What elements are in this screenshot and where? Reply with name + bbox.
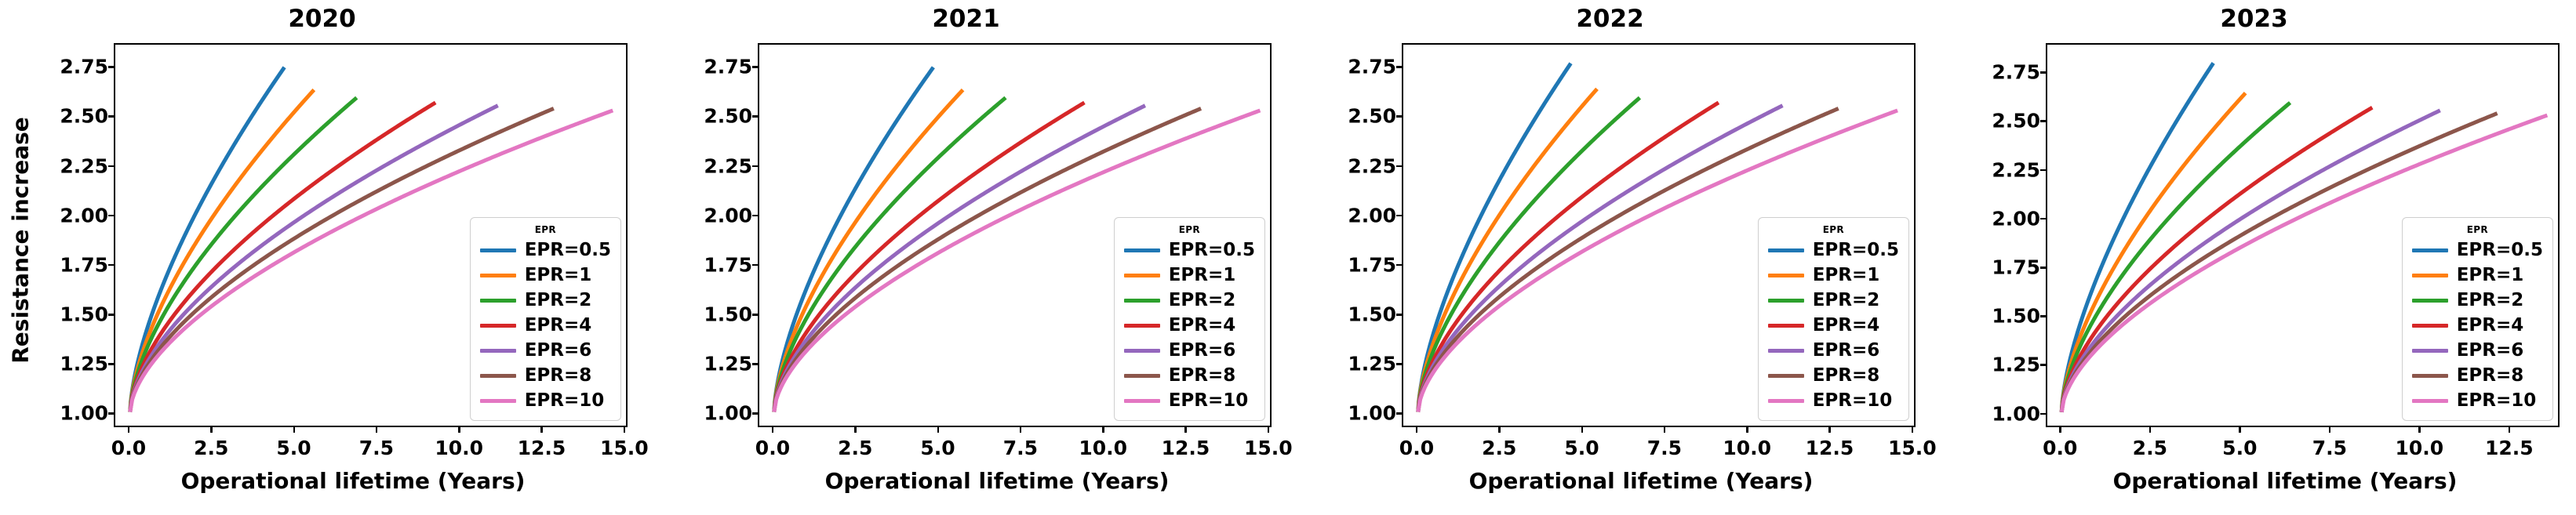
panel-title: 2021 <box>644 5 1288 33</box>
y-tick-label: 2.75 <box>704 56 752 78</box>
legend-swatch-icon <box>1768 324 1804 328</box>
x-tick-mark <box>1102 427 1104 433</box>
y-tick-mark <box>752 363 758 365</box>
legend-item[interactable]: EPR=2 <box>1768 288 1899 313</box>
legend-title: EPR <box>1768 224 1899 235</box>
legend-swatch-icon <box>2412 399 2448 403</box>
legend-item[interactable]: EPR=8 <box>1768 363 1899 388</box>
legend-swatch-icon <box>1124 274 1160 277</box>
legend-swatch-icon <box>1768 399 1804 403</box>
legend-swatch-icon <box>2412 274 2448 277</box>
legend-item-label: EPR=6 <box>525 342 592 360</box>
x-tick-mark <box>772 427 774 433</box>
y-tick-mark <box>1396 66 1402 68</box>
legend-item[interactable]: EPR=6 <box>1768 338 1899 363</box>
y-tick-mark <box>108 165 114 168</box>
legend-swatch-icon <box>1768 349 1804 353</box>
x-tick-mark <box>540 427 543 433</box>
legend-item[interactable]: EPR=4 <box>480 313 611 338</box>
x-tick-label: 5.0 <box>2222 437 2257 459</box>
x-tick-mark <box>2059 427 2061 433</box>
x-tick-mark <box>458 427 460 433</box>
legend-item[interactable]: EPR=1 <box>480 263 611 288</box>
y-tick-label: 2.50 <box>1348 105 1396 128</box>
plot-area: EPREPR=0.5EPR=1EPR=2EPR=4EPR=6EPR=8EPR=1… <box>2046 43 2560 427</box>
x-tick-label: 0.0 <box>755 437 790 459</box>
legend-swatch-icon <box>480 324 516 328</box>
x-tick-label: 15.0 <box>1888 437 1937 459</box>
y-axis-ticks: 1.001.251.501.752.002.252.502.75 <box>1932 43 2040 427</box>
legend-item-label: EPR=10 <box>1169 392 1249 410</box>
y-tick-mark <box>2040 267 2046 269</box>
legend-swatch-icon <box>1768 374 1804 378</box>
legend-swatch-icon <box>2412 299 2448 303</box>
y-tick-mark <box>1396 363 1402 365</box>
y-tick-mark <box>1396 412 1402 415</box>
legend-item-label: EPR=10 <box>525 392 605 410</box>
legend-item-label: EPR=10 <box>1813 392 1893 410</box>
y-tick-mark <box>108 66 114 68</box>
y-tick-mark <box>2040 315 2046 317</box>
y-tick-label: 1.75 <box>1348 253 1396 276</box>
x-tick-label: 5.0 <box>276 437 311 459</box>
legend-swatch-icon <box>2412 248 2448 252</box>
y-tick-mark <box>2040 120 2046 122</box>
legend-item-label: EPR=0.5 <box>1813 241 1899 259</box>
legend-swatch-icon <box>1124 248 1160 252</box>
legend-swatch-icon <box>480 248 516 252</box>
y-tick-mark <box>752 264 758 267</box>
y-tick-label: 2.50 <box>60 105 108 128</box>
y-tick-mark <box>2040 71 2046 74</box>
series-line-EPR-2 <box>774 98 1006 412</box>
y-tick-label: 1.50 <box>704 303 752 326</box>
y-tick-label: 1.25 <box>1348 353 1396 375</box>
x-tick-label: 2.5 <box>1482 437 1516 459</box>
legend-swatch-icon <box>1124 299 1160 303</box>
plot-area: EPREPR=0.5EPR=1EPR=2EPR=4EPR=6EPR=8EPR=1… <box>758 43 1272 427</box>
legend-item-label: EPR=6 <box>1169 342 1236 360</box>
legend-item[interactable]: EPR=10 <box>1124 388 1255 413</box>
legend-item-label: EPR=2 <box>525 292 592 310</box>
x-tick-label: 15.0 <box>600 437 649 459</box>
x-tick-label: 0.0 <box>2043 437 2077 459</box>
x-tick-label: 5.0 <box>920 437 955 459</box>
legend-swatch-icon <box>1768 248 1804 252</box>
y-tick-label: 2.75 <box>1992 61 2040 84</box>
legend-item[interactable]: EPR=10 <box>2412 388 2543 413</box>
series-line-EPR-2 <box>2061 103 2290 412</box>
legend-item[interactable]: EPR=0.5 <box>1768 238 1899 263</box>
legend[interactable]: EPREPR=0.5EPR=1EPR=2EPR=4EPR=6EPR=8EPR=1… <box>2402 217 2553 421</box>
legend-item[interactable]: EPR=0.5 <box>1124 238 1255 263</box>
y-tick-mark <box>752 165 758 168</box>
y-tick-label: 2.00 <box>1348 204 1396 227</box>
legend-item[interactable]: EPR=6 <box>480 338 611 363</box>
series-line-EPR-2 <box>1418 98 1640 412</box>
x-tick-mark <box>624 427 626 433</box>
x-tick-label: 10.0 <box>2396 437 2444 459</box>
legend-item-label: EPR=6 <box>2457 342 2524 360</box>
legend-item-label: EPR=0.5 <box>525 241 611 259</box>
y-tick-label: 1.00 <box>1348 402 1396 425</box>
series-line-EPR-1 <box>130 90 314 412</box>
y-tick-label: 2.75 <box>1348 56 1396 78</box>
x-tick-label: 7.5 <box>359 437 394 459</box>
y-tick-label: 2.00 <box>704 204 752 227</box>
legend-title: EPR <box>480 224 611 235</box>
y-tick-label: 1.50 <box>60 303 108 326</box>
plot-area: EPREPR=0.5EPR=1EPR=2EPR=4EPR=6EPR=8EPR=1… <box>1402 43 1916 427</box>
x-tick-label: 10.0 <box>1079 437 1127 459</box>
legend-swatch-icon <box>1124 399 1160 403</box>
y-axis-ticks: 1.001.251.501.752.002.252.502.75 <box>1288 43 1396 427</box>
legend-swatch-icon <box>2412 374 2448 378</box>
y-tick-label: 1.75 <box>704 253 752 276</box>
legend-item[interactable]: EPR=6 <box>1124 338 1255 363</box>
x-tick-label: 15.0 <box>1244 437 1293 459</box>
y-tick-label: 2.50 <box>704 105 752 128</box>
x-tick-mark <box>1664 427 1666 433</box>
y-tick-label: 1.25 <box>1992 354 2040 376</box>
x-tick-label: 2.5 <box>2133 437 2167 459</box>
x-tick-label: 10.0 <box>435 437 483 459</box>
x-tick-mark <box>293 427 296 433</box>
legend-item[interactable]: EPR=2 <box>480 288 611 313</box>
y-tick-label: 1.50 <box>1992 305 2040 328</box>
legend-swatch-icon <box>1768 299 1804 303</box>
x-tick-label: 12.5 <box>1162 437 1210 459</box>
x-tick-label: 0.0 <box>111 437 146 459</box>
x-tick-mark <box>937 427 940 433</box>
panel-2023: 2023Operational lifetime (Years)1.001.25… <box>1932 0 2576 515</box>
y-tick-mark <box>108 264 114 267</box>
series-line-EPR-1 <box>774 90 963 412</box>
y-tick-label: 2.25 <box>1348 154 1396 177</box>
series-line-EPR-1 <box>1418 89 1597 412</box>
panel-2020: 2020Resistance increaseOperational lifet… <box>0 0 644 515</box>
y-tick-label: 1.00 <box>60 402 108 425</box>
legend-item[interactable]: EPR=6 <box>2412 338 2543 363</box>
x-tick-mark <box>854 427 857 433</box>
y-tick-mark <box>2040 364 2046 366</box>
x-tick-mark <box>1912 427 1914 433</box>
y-tick-mark <box>1396 165 1402 168</box>
y-tick-mark <box>752 215 758 217</box>
y-tick-mark <box>752 66 758 68</box>
legend-item[interactable]: EPR=10 <box>480 388 611 413</box>
y-tick-mark <box>108 363 114 365</box>
y-tick-mark <box>1396 314 1402 316</box>
x-axis-ticks: 0.02.55.07.510.012.5 <box>2046 427 2560 474</box>
panel-title: 2023 <box>1932 5 2576 33</box>
legend-item-label: EPR=8 <box>2457 367 2524 385</box>
x-tick-label: 0.0 <box>1399 437 1434 459</box>
legend-item[interactable]: EPR=4 <box>1768 313 1899 338</box>
y-tick-mark <box>2040 413 2046 415</box>
legend-item[interactable]: EPR=8 <box>480 363 611 388</box>
x-tick-label: 7.5 <box>2312 437 2347 459</box>
y-tick-label: 2.75 <box>60 56 108 78</box>
y-tick-label: 2.50 <box>1992 110 2040 132</box>
legend-item[interactable]: EPR=1 <box>1124 263 1255 288</box>
x-tick-mark <box>1581 427 1584 433</box>
x-tick-mark <box>376 427 378 433</box>
y-tick-label: 1.25 <box>60 353 108 375</box>
legend-item[interactable]: EPR=4 <box>1124 313 1255 338</box>
legend-swatch-icon <box>480 374 516 378</box>
y-tick-mark <box>752 314 758 316</box>
x-tick-mark <box>2418 427 2421 433</box>
panel-title: 2022 <box>1288 5 1932 33</box>
legend-item-label: EPR=0.5 <box>1169 241 1255 259</box>
y-tick-mark <box>2040 169 2046 172</box>
x-tick-mark <box>1268 427 1270 433</box>
legend-item[interactable]: EPR=1 <box>2412 263 2543 288</box>
x-tick-label: 2.5 <box>194 437 228 459</box>
y-tick-mark <box>1396 115 1402 118</box>
x-tick-label: 12.5 <box>518 437 566 459</box>
legend-item-label: EPR=6 <box>1813 342 1880 360</box>
x-tick-mark <box>210 427 213 433</box>
legend-item-label: EPR=8 <box>1813 367 1880 385</box>
series-line-EPR-2 <box>130 98 357 412</box>
legend-item-label: EPR=4 <box>525 317 592 335</box>
y-axis-ticks: 1.001.251.501.752.002.252.502.75 <box>0 43 108 427</box>
legend-swatch-icon <box>480 299 516 303</box>
y-tick-label: 1.00 <box>1992 402 2040 425</box>
x-axis-ticks: 0.02.55.07.510.012.515.0 <box>114 427 628 474</box>
legend-item-label: EPR=1 <box>1813 267 1880 285</box>
legend-item[interactable]: EPR=2 <box>2412 288 2543 313</box>
legend-item-label: EPR=1 <box>525 267 592 285</box>
x-tick-label: 7.5 <box>1003 437 1038 459</box>
legend-item-label: EPR=2 <box>2457 292 2524 310</box>
legend-item-label: EPR=0.5 <box>2457 241 2543 259</box>
legend-item-label: EPR=4 <box>2457 317 2524 335</box>
y-tick-label: 2.00 <box>1992 207 2040 230</box>
legend-title: EPR <box>2412 224 2543 235</box>
legend[interactable]: EPREPR=0.5EPR=1EPR=2EPR=4EPR=6EPR=8EPR=1… <box>470 217 621 421</box>
x-tick-label: 12.5 <box>2485 437 2534 459</box>
x-tick-mark <box>1746 427 1748 433</box>
x-tick-mark <box>1498 427 1501 433</box>
x-tick-label: 12.5 <box>1806 437 1854 459</box>
y-tick-label: 1.25 <box>704 353 752 375</box>
plot-area: EPREPR=0.5EPR=1EPR=2EPR=4EPR=6EPR=8EPR=1… <box>114 43 628 427</box>
legend-swatch-icon <box>1124 374 1160 378</box>
series-line-EPR-1 <box>2061 93 2245 412</box>
legend-item[interactable]: EPR=4 <box>2412 313 2543 338</box>
legend-swatch-icon <box>1124 324 1160 328</box>
legend-item[interactable]: EPR=8 <box>2412 363 2543 388</box>
legend-item-label: EPR=8 <box>1169 367 1236 385</box>
legend-item[interactable]: EPR=10 <box>1768 388 1899 413</box>
x-tick-mark <box>2239 427 2241 433</box>
x-tick-mark <box>1828 427 1831 433</box>
legend-item-label: EPR=1 <box>1169 267 1236 285</box>
y-tick-mark <box>752 115 758 118</box>
panel-title: 2020 <box>0 5 644 33</box>
legend-item[interactable]: EPR=0.5 <box>480 238 611 263</box>
legend-item[interactable]: EPR=1 <box>1768 263 1899 288</box>
legend-item-label: EPR=10 <box>2457 392 2537 410</box>
legend-item-label: EPR=4 <box>1813 317 1880 335</box>
x-axis-ticks: 0.02.55.07.510.012.515.0 <box>758 427 1272 474</box>
y-tick-label: 2.25 <box>1992 158 2040 181</box>
legend-swatch-icon <box>480 399 516 403</box>
panel-2022: 2022Operational lifetime (Years)1.001.25… <box>1288 0 1932 515</box>
legend-swatch-icon <box>480 349 516 353</box>
y-tick-label: 2.25 <box>704 154 752 177</box>
legend-swatch-icon <box>1768 274 1804 277</box>
x-tick-label: 5.0 <box>1564 437 1599 459</box>
y-tick-mark <box>2040 218 2046 220</box>
y-tick-mark <box>1396 215 1402 217</box>
legend-swatch-icon <box>1124 349 1160 353</box>
x-tick-label: 2.5 <box>838 437 872 459</box>
x-tick-mark <box>128 427 130 433</box>
legend-item-label: EPR=1 <box>2457 267 2524 285</box>
legend-title: EPR <box>1124 224 1255 235</box>
legend[interactable]: EPREPR=0.5EPR=1EPR=2EPR=4EPR=6EPR=8EPR=1… <box>1758 217 1909 421</box>
y-tick-label: 2.25 <box>60 154 108 177</box>
y-tick-label: 1.00 <box>704 402 752 425</box>
legend-swatch-icon <box>2412 324 2448 328</box>
y-tick-label: 1.75 <box>60 253 108 276</box>
multi-panel-line-chart-figure: 2020Resistance increaseOperational lifet… <box>0 0 2576 515</box>
x-tick-mark <box>2329 427 2331 433</box>
x-tick-mark <box>2149 427 2152 433</box>
legend-item-label: EPR=4 <box>1169 317 1236 335</box>
y-tick-mark <box>108 215 114 217</box>
legend-item-label: EPR=2 <box>1169 292 1236 310</box>
x-tick-mark <box>2509 427 2511 433</box>
panel-2021: 2021Operational lifetime (Years)1.001.25… <box>644 0 1288 515</box>
legend-swatch-icon <box>2412 349 2448 353</box>
y-tick-mark <box>108 314 114 316</box>
x-tick-mark <box>1020 427 1022 433</box>
legend-item[interactable]: EPR=0.5 <box>2412 238 2543 263</box>
y-tick-label: 2.00 <box>60 204 108 227</box>
y-axis-ticks: 1.001.251.501.752.002.252.502.75 <box>644 43 752 427</box>
legend-item-label: EPR=8 <box>525 367 592 385</box>
x-tick-mark <box>1416 427 1418 433</box>
x-axis-ticks: 0.02.55.07.510.012.515.0 <box>1402 427 1916 474</box>
y-tick-mark <box>1396 264 1402 267</box>
legend[interactable]: EPREPR=0.5EPR=1EPR=2EPR=4EPR=6EPR=8EPR=1… <box>1114 217 1265 421</box>
y-tick-label: 1.75 <box>1992 256 2040 279</box>
x-tick-label: 10.0 <box>1723 437 1771 459</box>
legend-item-label: EPR=2 <box>1813 292 1880 310</box>
y-tick-label: 1.50 <box>1348 303 1396 326</box>
legend-item[interactable]: EPR=8 <box>1124 363 1255 388</box>
y-tick-mark <box>752 412 758 415</box>
x-tick-mark <box>1184 427 1187 433</box>
y-tick-mark <box>108 412 114 415</box>
legend-item[interactable]: EPR=2 <box>1124 288 1255 313</box>
x-tick-label: 7.5 <box>1647 437 1682 459</box>
legend-swatch-icon <box>480 274 516 277</box>
y-tick-mark <box>108 115 114 118</box>
